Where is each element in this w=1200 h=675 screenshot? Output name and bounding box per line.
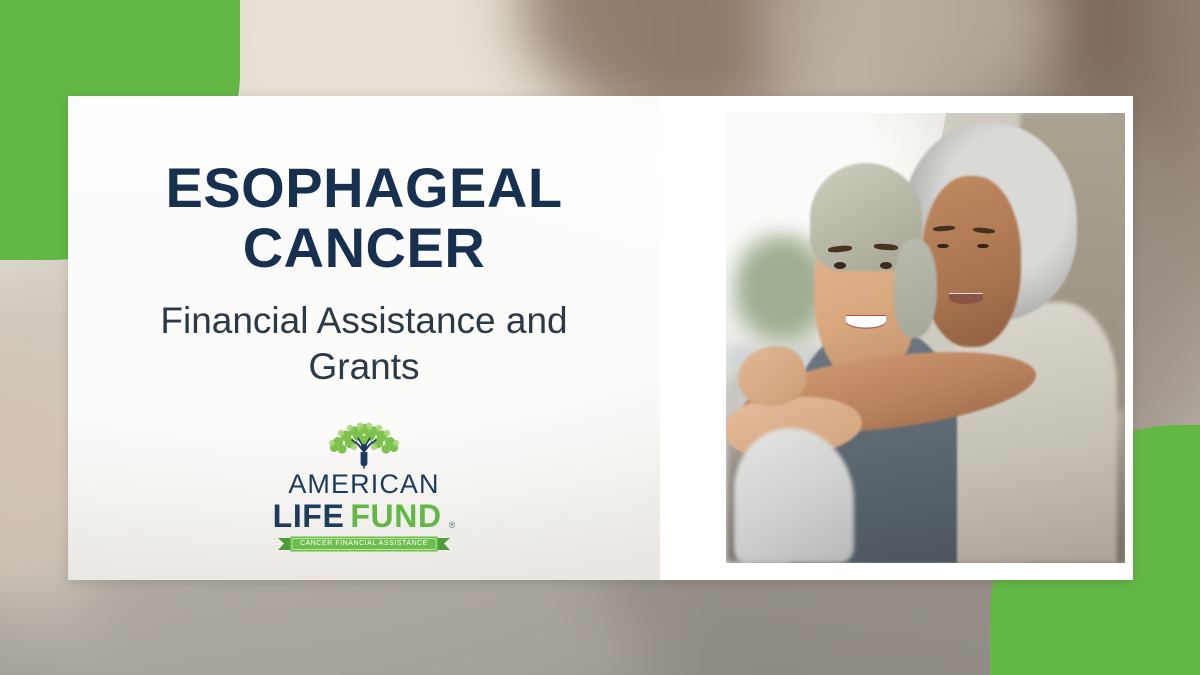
american-life-fund-logo[interactable]: AMERICAN LIFE FUND ® CANCER FINANCIAL AS… <box>276 422 452 554</box>
older-woman-smile <box>949 293 983 304</box>
text-column: ESOPHAGEAL CANCER Financial Assistance a… <box>68 96 660 580</box>
content-card: ESOPHAGEAL CANCER Financial Assistance a… <box>68 96 1133 580</box>
logo-line-american: AMERICAN <box>288 471 439 498</box>
hero-photo <box>726 113 1125 563</box>
logo-word-fund: FUND <box>350 500 441 532</box>
young-woman-headscarf-tail <box>894 239 938 338</box>
logo-word-life: LIFE <box>273 500 345 532</box>
page-subtitle: Financial Assistance and Grants <box>154 298 574 390</box>
logo-tagline-ribbon: CANCER FINANCIAL ASSISTANCE <box>276 534 452 554</box>
photo-frame <box>660 96 1133 580</box>
tree-with-person-logo-icon <box>316 422 412 476</box>
older-woman-head <box>922 176 1022 347</box>
page-title: ESOPHAGEAL CANCER <box>129 158 599 278</box>
logo-line-life-fund: LIFE FUND ® <box>273 500 456 532</box>
hero-banner: ESOPHAGEAL CANCER Financial Assistance a… <box>0 0 1200 675</box>
registered-trademark-icon: ® <box>449 521 456 530</box>
logo-tagline-text: CANCER FINANCIAL ASSISTANCE <box>276 540 452 547</box>
young-woman-smile <box>846 316 886 330</box>
